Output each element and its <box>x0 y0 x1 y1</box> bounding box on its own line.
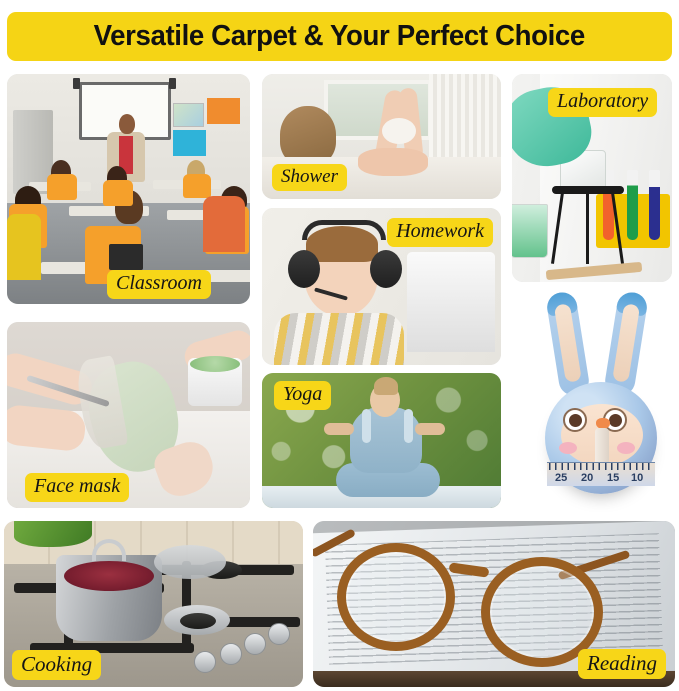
label-yoga: Yoga <box>274 381 331 410</box>
label-homework: Homework <box>387 218 493 247</box>
label-classroom: Classroom <box>107 270 211 299</box>
eyeglasses-left-lens <box>337 543 455 651</box>
header-banner: Versatile Carpet & Your Perfect Choice <box>7 12 672 61</box>
rabbit-timer: 25 20 15 10 <box>537 286 657 502</box>
panel-homework[interactable]: Homework <box>262 208 501 365</box>
timer-dial-ticks <box>549 463 653 470</box>
panel-yoga[interactable]: Yoga <box>262 373 501 508</box>
product-image-rabbit-timer[interactable]: 25 20 15 10 <box>505 282 679 512</box>
rabbit-ear-right <box>603 290 649 397</box>
label-face-mask: Face mask <box>25 473 129 502</box>
panel-cooking[interactable]: Cooking <box>4 521 303 687</box>
dial-number-20: 20 <box>581 472 593 484</box>
label-laboratory: Laboratory <box>548 88 657 117</box>
dial-number-10: 10 <box>631 472 643 484</box>
panel-shower[interactable]: Shower <box>262 74 501 199</box>
rabbit-ear-left <box>545 290 591 397</box>
dial-number-15: 15 <box>607 472 619 484</box>
page-title: Versatile Carpet & Your Perfect Choice <box>94 20 585 53</box>
label-cooking: Cooking <box>12 650 101 680</box>
timer-knob[interactable] <box>595 428 609 466</box>
dial-number-25: 25 <box>555 472 567 484</box>
panel-face-mask[interactable]: Face mask <box>7 322 250 508</box>
panel-reading[interactable]: Reading <box>313 521 675 687</box>
label-reading: Reading <box>578 649 666 679</box>
panel-classroom[interactable]: Classroom <box>7 74 250 304</box>
label-shower: Shower <box>272 164 347 191</box>
